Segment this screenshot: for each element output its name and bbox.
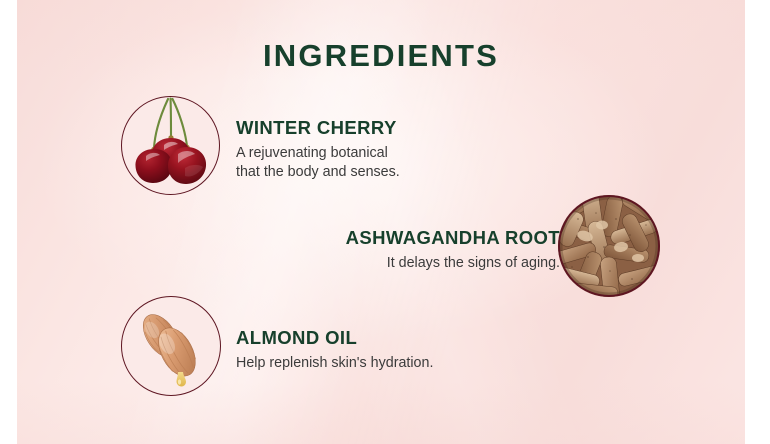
ingredient-description-ashwagandha-root: It delays the signs of aging.	[197, 254, 560, 273]
ingredient-name-almond-oil: ALMOND OIL	[236, 327, 433, 349]
ashwagandha-root-icon	[558, 195, 660, 297]
page-title: INGREDIENTS	[17, 38, 745, 74]
ingredient-winter-cherry: WINTER CHERRY A rejuvenating botanical t…	[236, 117, 400, 182]
description-line-2: that the body and senses.	[236, 163, 400, 182]
ingredient-image-winter-cherry	[121, 96, 220, 195]
ingredient-description-almond-oil: Help replenish skin's hydration.	[236, 354, 433, 373]
description-line-1: Help replenish skin's hydration.	[236, 354, 433, 373]
almonds-icon	[121, 296, 221, 396]
ingredient-almond-oil: ALMOND OIL Help replenish skin's hydrati…	[236, 327, 433, 373]
description-line-1: It delays the signs of aging.	[197, 254, 560, 273]
ingredient-image-almond-oil	[121, 296, 221, 396]
ingredient-name-winter-cherry: WINTER CHERRY	[236, 117, 400, 139]
ingredient-description-winter-cherry: A rejuvenating botanical that the body a…	[236, 144, 400, 182]
ingredient-name-ashwagandha-root: ASHWAGANDHA ROOT	[197, 227, 560, 249]
ingredients-poster: INGREDIENTS	[0, 0, 770, 444]
ingredient-ashwagandha-root: ASHWAGANDHA ROOT It delays the signs of …	[197, 227, 560, 273]
ingredient-image-ashwagandha-root	[558, 195, 660, 297]
description-line-1: A rejuvenating botanical	[236, 144, 400, 163]
cherries-icon	[121, 96, 220, 195]
poster-canvas: INGREDIENTS	[17, 0, 745, 444]
